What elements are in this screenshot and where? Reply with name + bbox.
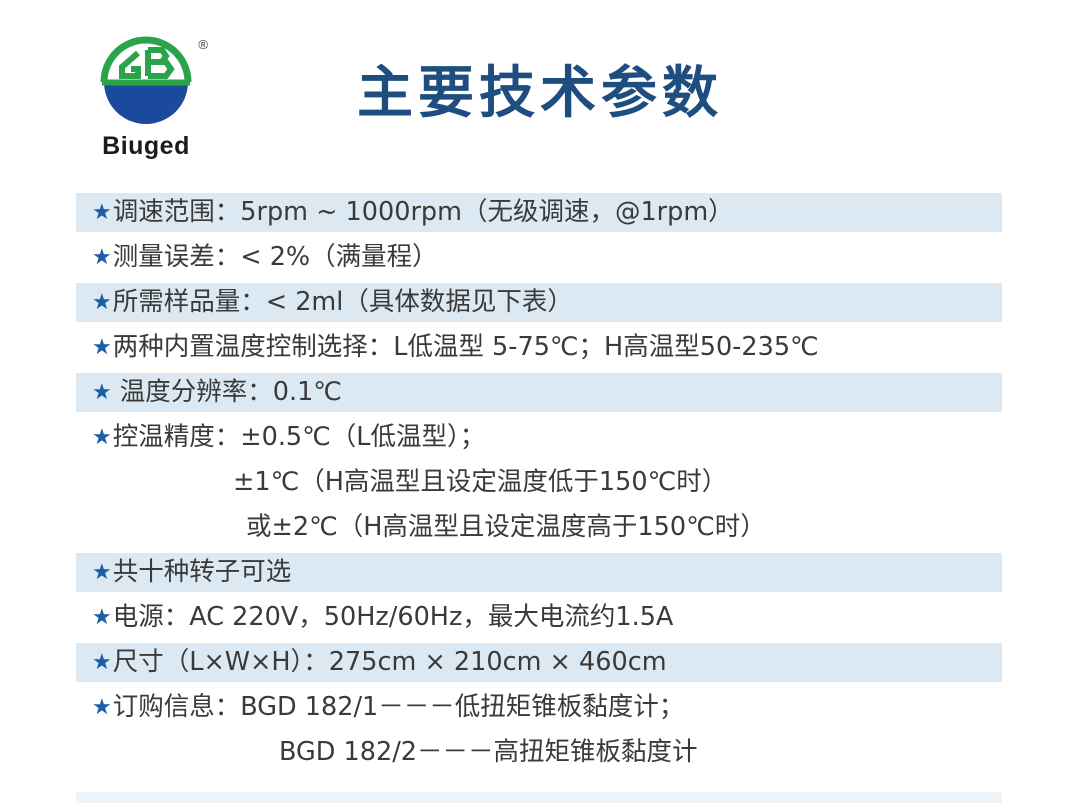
- spec-row: 或±2℃（H高温型且设定温度高于150℃时）: [0, 505, 1080, 550]
- star-bullet-icon: ★: [92, 696, 112, 718]
- spec-text: 调速范围：5rpm ~ 1000rpm（无级调速，@1rpm）: [113, 198, 734, 226]
- spec-text: 测量误差：< 2%（满量程）: [113, 243, 438, 271]
- spec-row-content: ±1℃（H高温型且设定温度低于150℃时）: [0, 468, 1080, 496]
- star-bullet-icon: ★: [92, 561, 112, 583]
- spec-text: 尺寸（L×W×H）：275cm × 210cm × 460cm: [113, 648, 667, 676]
- spec-text: 订购信息：BGD 182/1－－－低扭矩锥板黏度计；: [113, 693, 685, 721]
- bottom-band-sliver: [76, 792, 1002, 803]
- spec-row: ★两种内置温度控制选择：L低温型 5-75℃；H高温型50-235℃: [0, 325, 1080, 370]
- specifications-list: ★调速范围：5rpm ~ 1000rpm（无级调速，@1rpm）★测量误差：< …: [0, 190, 1080, 803]
- spec-row-content: ★电源：AC 220V，50Hz/60Hz，最大电流约1.5A: [0, 603, 1080, 631]
- spec-row: ±1℃（H高温型且设定温度低于150℃时）: [0, 460, 1080, 505]
- spec-row: BGD 182/2－－－高扭矩锥板黏度计: [0, 730, 1080, 775]
- spec-text: 共十种转子可选: [113, 558, 292, 586]
- star-bullet-icon: ★: [92, 426, 112, 448]
- star-bullet-icon: ★: [92, 291, 112, 313]
- spec-row: ★调速范围：5rpm ~ 1000rpm（无级调速，@1rpm）: [0, 190, 1080, 235]
- spec-row: ★订购信息：BGD 182/1－－－低扭矩锥板黏度计；: [0, 685, 1080, 730]
- spec-text: 温度分辨率：0.1℃: [120, 378, 342, 406]
- spec-text: 电源：AC 220V，50Hz/60Hz，最大电流约1.5A: [113, 603, 674, 631]
- spec-row-content: ★调速范围：5rpm ~ 1000rpm（无级调速，@1rpm）: [0, 198, 1080, 226]
- spec-row-content: ★尺寸（L×W×H）：275cm × 210cm × 460cm: [0, 648, 1080, 676]
- star-bullet-icon: ★: [92, 381, 112, 403]
- spec-row-content: 或±2℃（H高温型且设定温度高于150℃时）: [0, 513, 1080, 541]
- star-bullet-icon: ★: [92, 246, 112, 268]
- page-header: ® Biuged 主要技术参数: [0, 0, 1080, 180]
- spec-row-content: BGD 182/2－－－高扭矩锥板黏度计: [0, 738, 1080, 766]
- spec-row-content: ★共十种转子可选: [0, 558, 1080, 586]
- spec-row-content: ★订购信息：BGD 182/1－－－低扭矩锥板黏度计；: [0, 693, 1080, 721]
- brand-wordmark: Biuged: [76, 132, 216, 161]
- spec-row-content: ★两种内置温度控制选择：L低温型 5-75℃；H高温型50-235℃: [0, 333, 1080, 361]
- spec-row-content: ★测量误差：< 2%（满量程）: [0, 243, 1080, 271]
- spec-text: 或±2℃（H高温型且设定温度高于150℃时）: [246, 513, 766, 541]
- spec-text: 两种内置温度控制选择：L低温型 5-75℃；H高温型50-235℃: [113, 333, 819, 361]
- spec-row-content: ★控温精度：±0.5℃（L低温型）；: [0, 423, 1080, 451]
- spec-text: 所需样品量：< 2ml（具体数据见下表）: [113, 288, 573, 316]
- star-bullet-icon: ★: [92, 336, 112, 358]
- spec-row: ★电源：AC 220V，50Hz/60Hz，最大电流约1.5A: [0, 595, 1080, 640]
- spec-text: BGD 182/2－－－高扭矩锥板黏度计: [279, 738, 698, 766]
- star-bullet-icon: ★: [92, 651, 112, 673]
- star-bullet-icon: ★: [92, 201, 112, 223]
- spec-row-content: ★所需样品量：< 2ml（具体数据见下表）: [0, 288, 1080, 316]
- page-title: 主要技术参数: [0, 48, 1080, 129]
- star-bullet-icon: ★: [92, 606, 112, 628]
- spec-row: ★温度分辨率：0.1℃: [0, 370, 1080, 415]
- spec-row: ★共十种转子可选: [0, 550, 1080, 595]
- spec-row: ★测量误差：< 2%（满量程）: [0, 235, 1080, 280]
- spec-text: 控温精度：±0.5℃（L低温型）；: [113, 423, 486, 451]
- spec-row: ★所需样品量：< 2ml（具体数据见下表）: [0, 280, 1080, 325]
- spec-text: ±1℃（H高温型且设定温度低于150℃时）: [233, 468, 727, 496]
- spec-row: ★控温精度：±0.5℃（L低温型）；: [0, 415, 1080, 460]
- spec-row-content: ★温度分辨率：0.1℃: [0, 378, 1080, 406]
- spec-row: ★尺寸（L×W×H）：275cm × 210cm × 460cm: [0, 640, 1080, 685]
